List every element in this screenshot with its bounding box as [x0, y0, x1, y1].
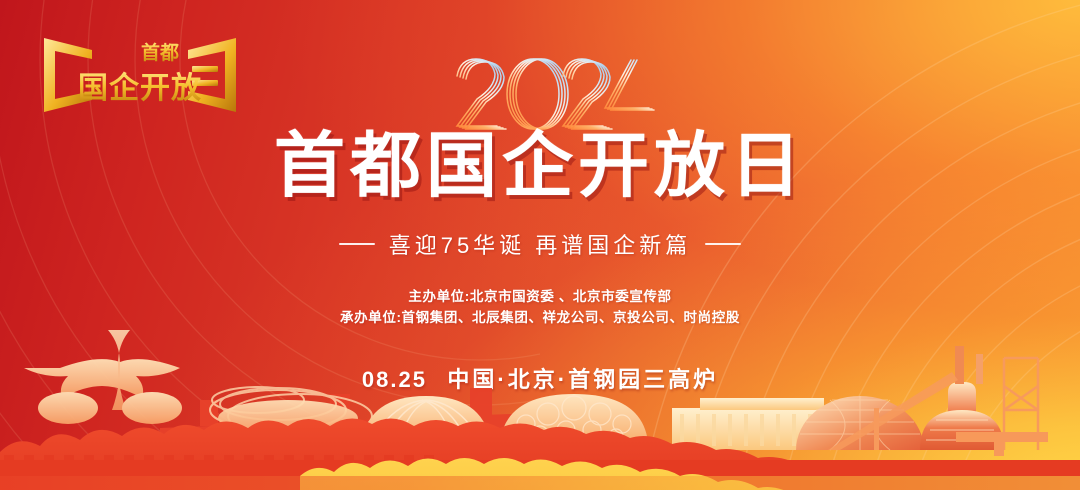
page-title: 首都国企开放日	[0, 131, 1080, 202]
logo-main-text: 国企开放	[78, 71, 202, 105]
subtitle-rule-left	[339, 243, 375, 245]
city-skyline-illustration	[0, 300, 1080, 490]
poster-banner: 首都 国企开放	[0, 0, 1080, 490]
ground-band	[0, 476, 1080, 490]
subtitle-text: 喜迎75华诞 再谱国企新篇	[389, 228, 692, 260]
event-logo[interactable]: 首都 国企开放	[40, 32, 240, 118]
subtitle-row: 喜迎75华诞 再谱国企新篇	[0, 228, 1080, 260]
subtitle-rule-right	[705, 243, 741, 245]
landmark-phoenix-center	[24, 330, 182, 424]
logo-top-text: 首都	[141, 41, 179, 64]
